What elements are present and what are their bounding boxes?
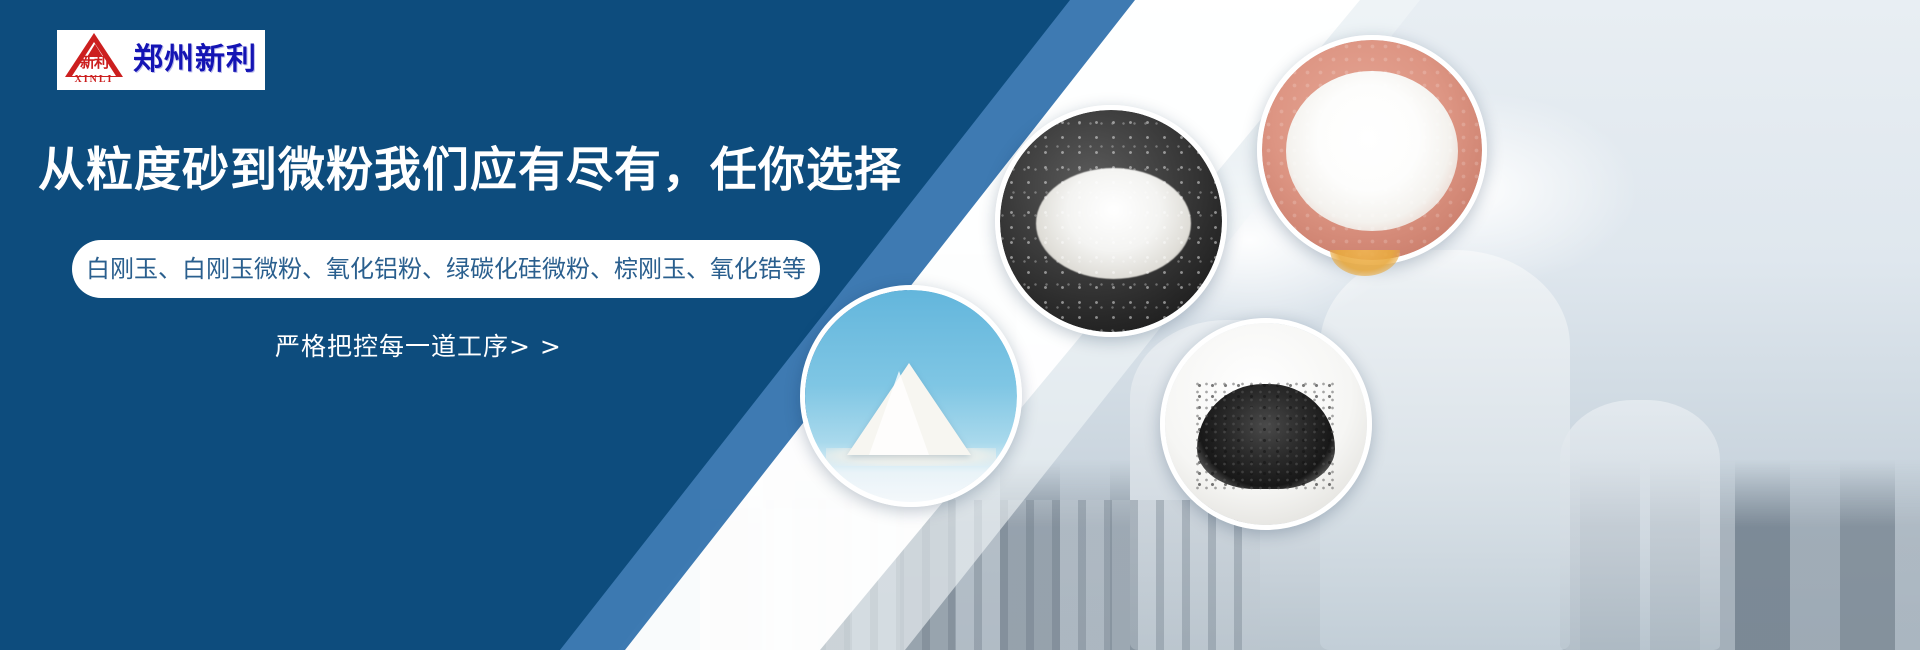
- product-grain-texture: [1262, 40, 1482, 260]
- product-grain-texture: [1193, 380, 1338, 493]
- triangle-mountain-icon: 新利 XINLI: [63, 33, 125, 87]
- cooling-tower-icon: [1560, 400, 1720, 650]
- logo-wordmark: 郑州新利: [133, 44, 257, 76]
- product-photo-white-powder: [1257, 35, 1487, 265]
- product-photo-powder-cone: [800, 285, 1022, 507]
- hero-headline: 从粒度砂到微粉我们应有尽有，任你选择: [38, 140, 902, 202]
- product-list-text: 白刚玉、白刚玉微粉、氧化铝粉、绿碳化硅微粉、棕刚玉、氧化锆等: [86, 256, 806, 282]
- logo-mark-pinyin-label: XINLI: [63, 75, 125, 85]
- company-logo[interactable]: 新利 XINLI 郑州新利: [57, 30, 265, 90]
- product-list-pill: 白刚玉、白刚玉微粉、氧化铝粉、绿碳化硅微粉、棕刚玉、氧化锆等: [72, 240, 820, 298]
- logo-mark-chinese-label: 新利: [63, 55, 125, 70]
- product-heap-highlight: [869, 371, 929, 455]
- product-photo-white-granules: [995, 105, 1227, 337]
- product-grain-texture: [1000, 110, 1222, 332]
- hero-tagline-link[interactable]: 严格把控每一道工序> >: [275, 330, 562, 364]
- product-photo-black-granules: [1160, 318, 1372, 530]
- promo-banner: 新利 XINLI 郑州新利 从粒度砂到微粉我们应有尽有，任你选择 白刚玉、白刚玉…: [0, 0, 1920, 650]
